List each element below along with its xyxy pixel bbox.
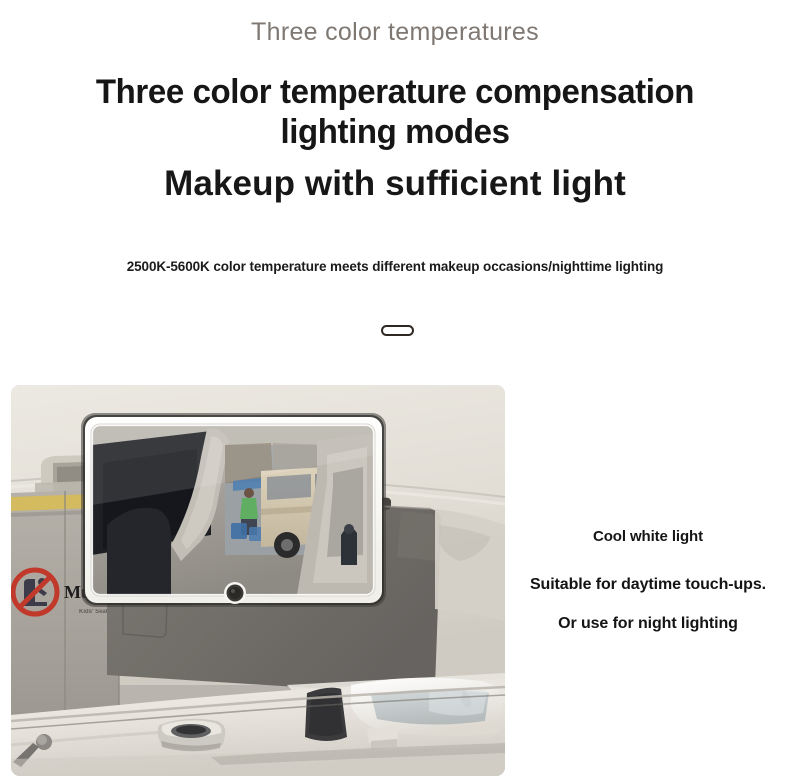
roof-right [435,509,505,621]
side-copy-line-1: Cool white light [506,528,790,545]
eyebrow-heading: Three color temperatures [0,18,790,47]
mirror-glass [92,425,374,595]
headline-line-1: Three color temperature compensation [12,72,778,112]
side-copy-line-2: Suitable for daytime touch-ups. [506,576,790,594]
page-title: Three color temperature compensation lig… [12,72,778,152]
led-vanity-mirror [77,409,390,611]
product-photo: Must be Kids' Seat [11,385,505,776]
mirror-power-button[interactable] [224,582,246,604]
car-interior-illustration: Must be Kids' Seat [11,385,505,776]
tagline: 2500K-5600K color temperature meets diff… [0,259,790,274]
product-feature-page: Three color temperatures Three color tem… [0,0,790,784]
side-copy-line-3: Or use for night lighting [506,615,790,633]
dashboard-tweeter-grille [158,719,226,752]
subheading: Makeup with sufficient light [0,162,790,206]
headline-line-2: lighting modes [12,112,778,152]
pill-divider-icon [381,325,414,336]
side-copy-block: Cool white light Suitable for daytime to… [506,528,790,633]
